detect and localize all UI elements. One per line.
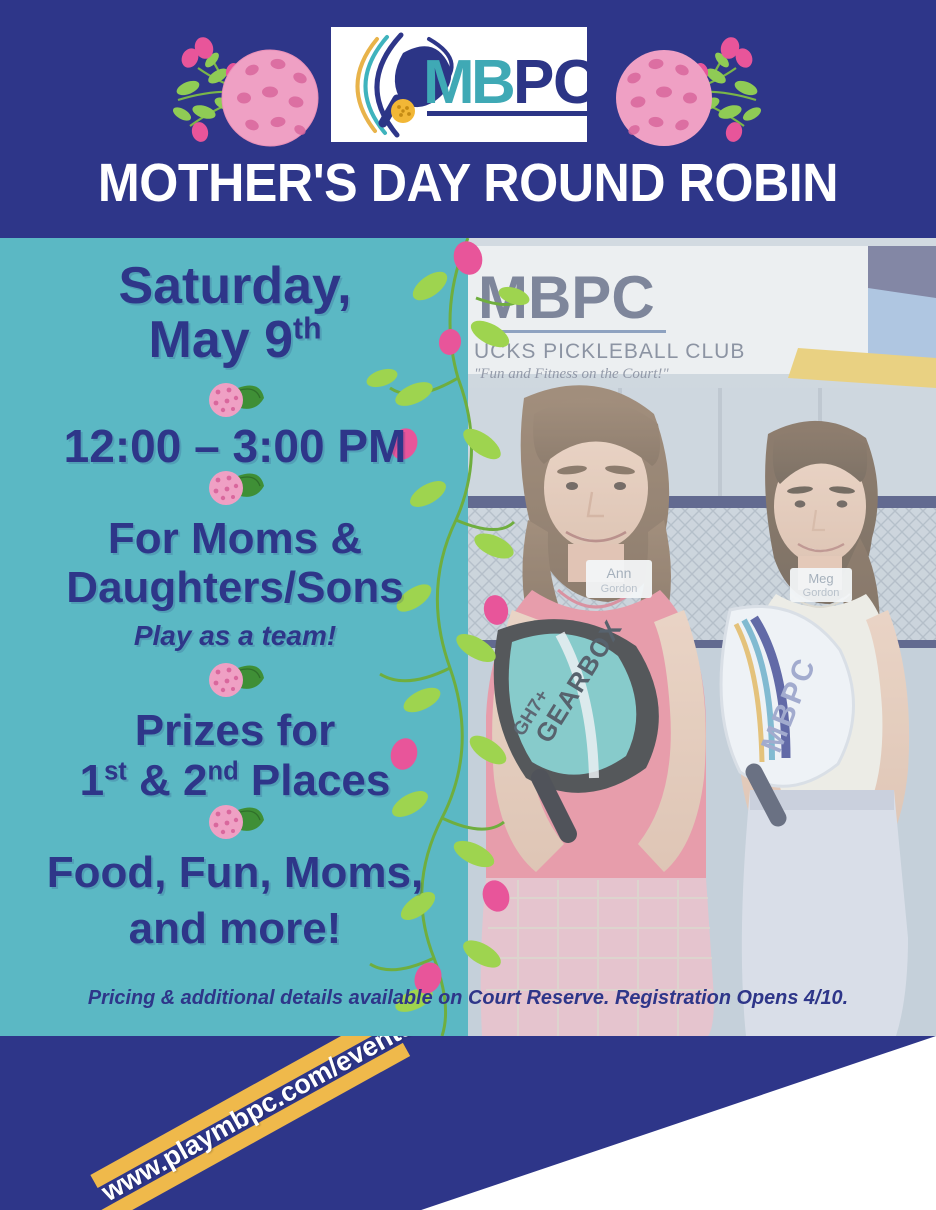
prize-place-second-ordinal: nd [208, 757, 239, 785]
food-line2: and more! [0, 906, 470, 951]
svg-text:M: M [423, 48, 476, 117]
pickleball-leaf-divider-icon [204, 378, 266, 422]
food-line1: Food, Fun, Moms, [0, 850, 470, 895]
poster-root: M B P C [0, 0, 936, 1210]
event-details-column: Saturday, May 9th 12:00 – 3:00 PM [0, 238, 470, 1036]
event-time: 12:00 – 3:00 PM [0, 423, 470, 470]
prize-amp: & [127, 756, 183, 805]
prize-place-first: 1 [80, 756, 104, 805]
fineprint-note: Pricing & additional details available o… [14, 986, 922, 1010]
mbpc-logo-icon: M B P C [331, 27, 587, 142]
floral-pickleball-left-icon [160, 30, 330, 155]
event-date-line2: May 9th [0, 314, 470, 368]
audience-line2: Daughters/Sons [0, 565, 470, 610]
pickleball-leaf-divider-icon [204, 658, 266, 702]
pickleball-leaf-divider-icon [204, 466, 266, 510]
event-date-main: May 9 [149, 311, 294, 369]
prize-place-second: 2 [183, 756, 207, 805]
prize-place-first-ordinal: st [104, 757, 127, 785]
team-note: Play as a team! [0, 622, 470, 651]
poster-header: M B P C [0, 0, 936, 238]
audience-line1: For Moms & [0, 516, 470, 561]
website-url[interactable]: www.playmbpc.com/events [96, 1036, 419, 1208]
poster-body: MBPC UCKS PICKLEBALL CLUB "Fun and Fitne… [0, 238, 936, 1036]
pickleball-leaf-divider-icon [204, 800, 266, 844]
page-title: MOTHER'S DAY ROUND ROBIN [33, 152, 903, 214]
prizes-line1: Prizes for [0, 708, 470, 753]
prizes-line2: 1st & 2nd Places [0, 758, 470, 803]
svg-text:B: B [471, 48, 517, 117]
website-url-band[interactable]: www.playmbpc.com/events [60, 1046, 580, 1206]
mbpc-logo-header: M B P C [331, 27, 587, 142]
poster-footer: www.playmbpc.com/events M B P C MERCER B… [0, 1036, 936, 1210]
prize-places-word: Places [239, 756, 391, 805]
event-date-ordinal: th [293, 313, 321, 346]
event-date-line1: Saturday, [0, 260, 470, 314]
svg-text:C: C [553, 48, 587, 117]
floral-pickleball-right-icon [604, 30, 774, 155]
svg-text:P: P [513, 48, 555, 117]
